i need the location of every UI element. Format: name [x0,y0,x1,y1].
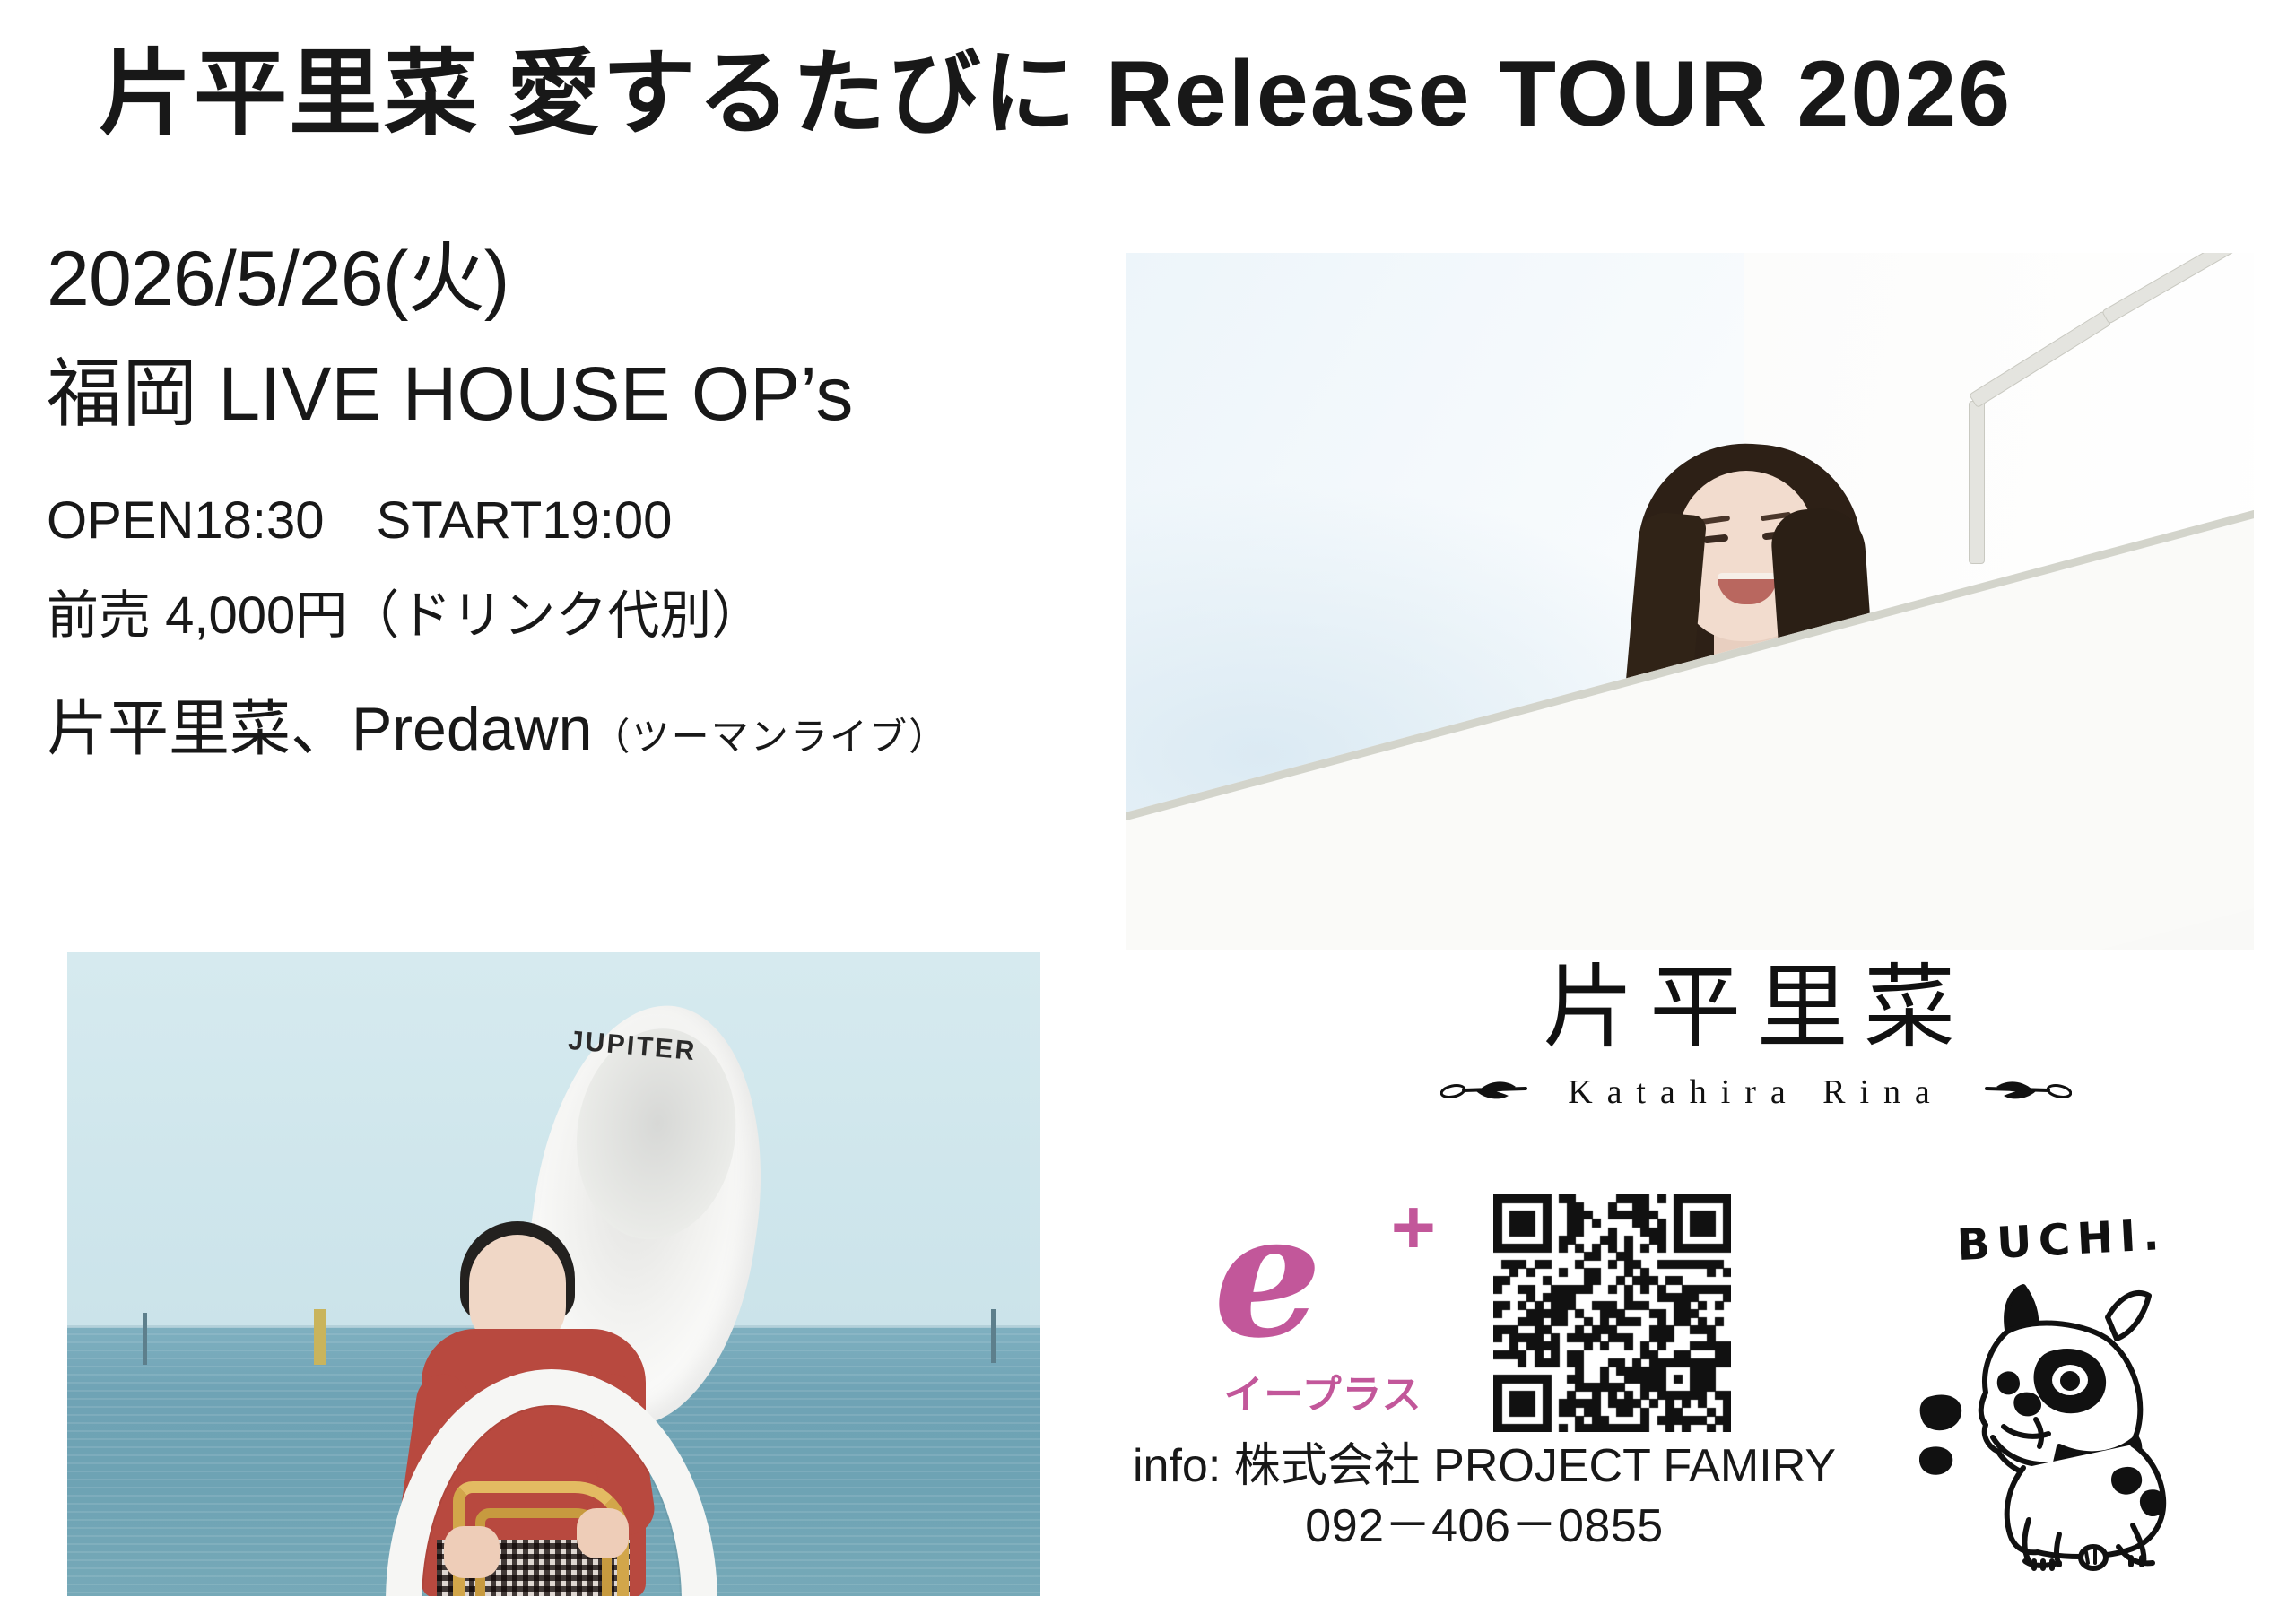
sea-pole [991,1309,996,1363]
sea-pole [143,1313,147,1365]
person-hand [444,1526,500,1578]
artist-portrait-photo [1126,253,2254,950]
event-info-column: 2026/5/26(火) 福岡 LIVE HOUSE OP’s OPEN18:3… [47,235,1123,768]
door-and-start-times: OPEN18:30 START19:00 [47,478,1123,553]
qr-code[interactable] [1493,1194,1731,1432]
artist-logo-romaji: Katahira Rina [1553,1072,1944,1112]
artist-logo: 片平里菜 Katahira Rina [1417,959,2081,1112]
buchi-dog-illustration-icon [1973,1278,2260,1578]
leaf-ornament-right-icon [1959,1072,2072,1112]
page-title: 片平里菜 愛するたびに Release TOUR 2026 [99,43,2012,145]
buchi-label: BUCHI. [1956,1210,2168,1271]
contact-info: info: 株式会社 PROJECT FAMIRY 092－406－0855 [1112,1436,1857,1556]
contact-phone: 092－406－0855 [1112,1497,1857,1557]
contact-company: info: 株式会社 PROJECT FAMIRY [1112,1436,1857,1497]
leaf-ornament-left-icon [1426,1072,1539,1112]
buchi-mascot: BUCHI. [1919,1215,2278,1592]
eplus-e-icon: e [1213,1200,1322,1352]
ticket-price: 前売 4,000円（ドリンク代別） [47,573,1123,648]
lineup-line: 片平里菜、Predawn（ツーマンライブ） [47,679,1123,768]
artist-logo-name-ja: 片平里菜 [1417,959,2081,1060]
eplus-plus-icon: + [1391,1196,1436,1259]
event-date: 2026/5/26(火) [47,235,1123,324]
sea-buoy [314,1309,326,1365]
qr-code-canvas[interactable] [1493,1194,1731,1432]
artist-sousaphone-photo: JUPITER [67,952,1040,1596]
venue-name: 福岡 LIVE HOUSE OP’s [47,351,1123,438]
person-hand [577,1508,629,1558]
artist-logo-romaji-row: Katahira Rina [1417,1072,2081,1112]
lineup-note: （ツーマンライブ） [592,716,948,758]
eplus-mark: e + [1206,1193,1439,1358]
eplus-ticket-vendor-logo[interactable]: e + イープラス [1206,1193,1439,1419]
lineup-artists: 片平里菜、Predawn [47,695,592,763]
